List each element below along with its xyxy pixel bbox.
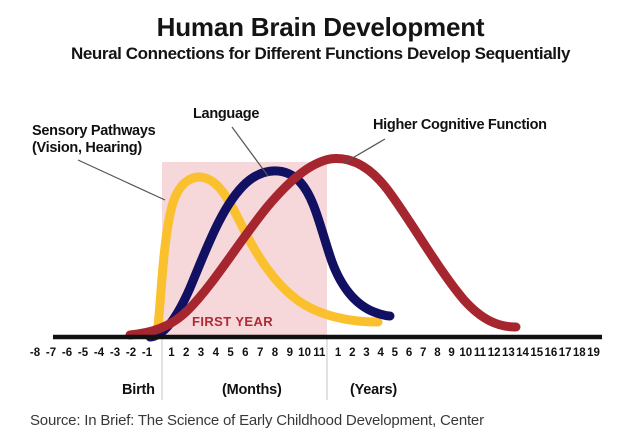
tick-year-7: 8: [430, 347, 444, 359]
curve-label-higher-cognitive-function: Higher Cognitive Function: [373, 117, 547, 134]
tick-month-4: 5: [223, 347, 238, 359]
tick-year-6: 7: [416, 347, 430, 359]
tick-month-1: 2: [179, 347, 194, 359]
first-year-band-label: FIRST YEAR: [192, 314, 273, 329]
tick-prenatal-2: -6: [59, 347, 75, 359]
tick-month-8: 9: [282, 347, 297, 359]
tick-year-18: 19: [586, 347, 600, 359]
tick-month-2: 3: [194, 347, 209, 359]
tick-month-9: 10: [297, 347, 312, 359]
x-axis-ticks-years: 12345678910111213141516171819: [331, 344, 601, 362]
axis-caption-birth: Birth: [122, 382, 155, 398]
tick-year-16: 17: [558, 347, 572, 359]
tick-prenatal-5: -3: [107, 347, 123, 359]
tick-month-0: 1: [164, 347, 179, 359]
tick-year-4: 5: [388, 347, 402, 359]
curve-label-sensory: Sensory Pathways (Vision, Hearing): [32, 123, 155, 157]
tick-prenatal-7: -1: [139, 347, 155, 359]
tick-prenatal-0: -8: [27, 347, 43, 359]
axis-caption-months: (Months): [222, 382, 282, 398]
tick-prenatal-6: -2: [123, 347, 139, 359]
tick-prenatal-1: -7: [43, 347, 59, 359]
tick-month-3: 4: [208, 347, 223, 359]
tick-year-14: 15: [530, 347, 544, 359]
chart-plot-area: [0, 0, 641, 438]
curve-label-language: Language: [193, 106, 259, 123]
tick-year-17: 18: [572, 347, 586, 359]
tick-year-8: 9: [445, 347, 459, 359]
tick-year-5: 6: [402, 347, 416, 359]
chart-figure: Human Brain Development Neural Connectio…: [0, 0, 641, 438]
x-axis-ticks-months: 1234567891011: [164, 344, 327, 362]
tick-month-10: 11: [312, 347, 327, 359]
tick-year-9: 10: [459, 347, 473, 359]
axis-caption-years: (Years): [350, 382, 397, 398]
tick-year-3: 4: [374, 347, 388, 359]
tick-year-15: 16: [544, 347, 558, 359]
tick-year-2: 3: [359, 347, 373, 359]
tick-month-7: 8: [268, 347, 283, 359]
curve-label-sensory-line1: Sensory Pathways: [32, 123, 155, 140]
tick-month-5: 6: [238, 347, 253, 359]
tick-prenatal-3: -5: [75, 347, 91, 359]
curve-label-sensory-line2: (Vision, Hearing): [32, 140, 155, 157]
x-axis-ticks-prenatal: -8-7-6-5-4-3-2-1: [27, 344, 155, 362]
source-citation: Source: In Brief: The Science of Early C…: [30, 412, 484, 429]
tick-year-0: 1: [331, 347, 345, 359]
tick-year-13: 14: [515, 347, 529, 359]
tick-month-6: 7: [253, 347, 268, 359]
leader-line-cognitive: [344, 139, 385, 163]
tick-year-1: 2: [345, 347, 359, 359]
leader-line-sensory: [78, 160, 165, 200]
tick-prenatal-4: -4: [91, 347, 107, 359]
tick-year-12: 13: [501, 347, 515, 359]
tick-year-10: 11: [473, 347, 487, 359]
tick-year-11: 12: [487, 347, 501, 359]
